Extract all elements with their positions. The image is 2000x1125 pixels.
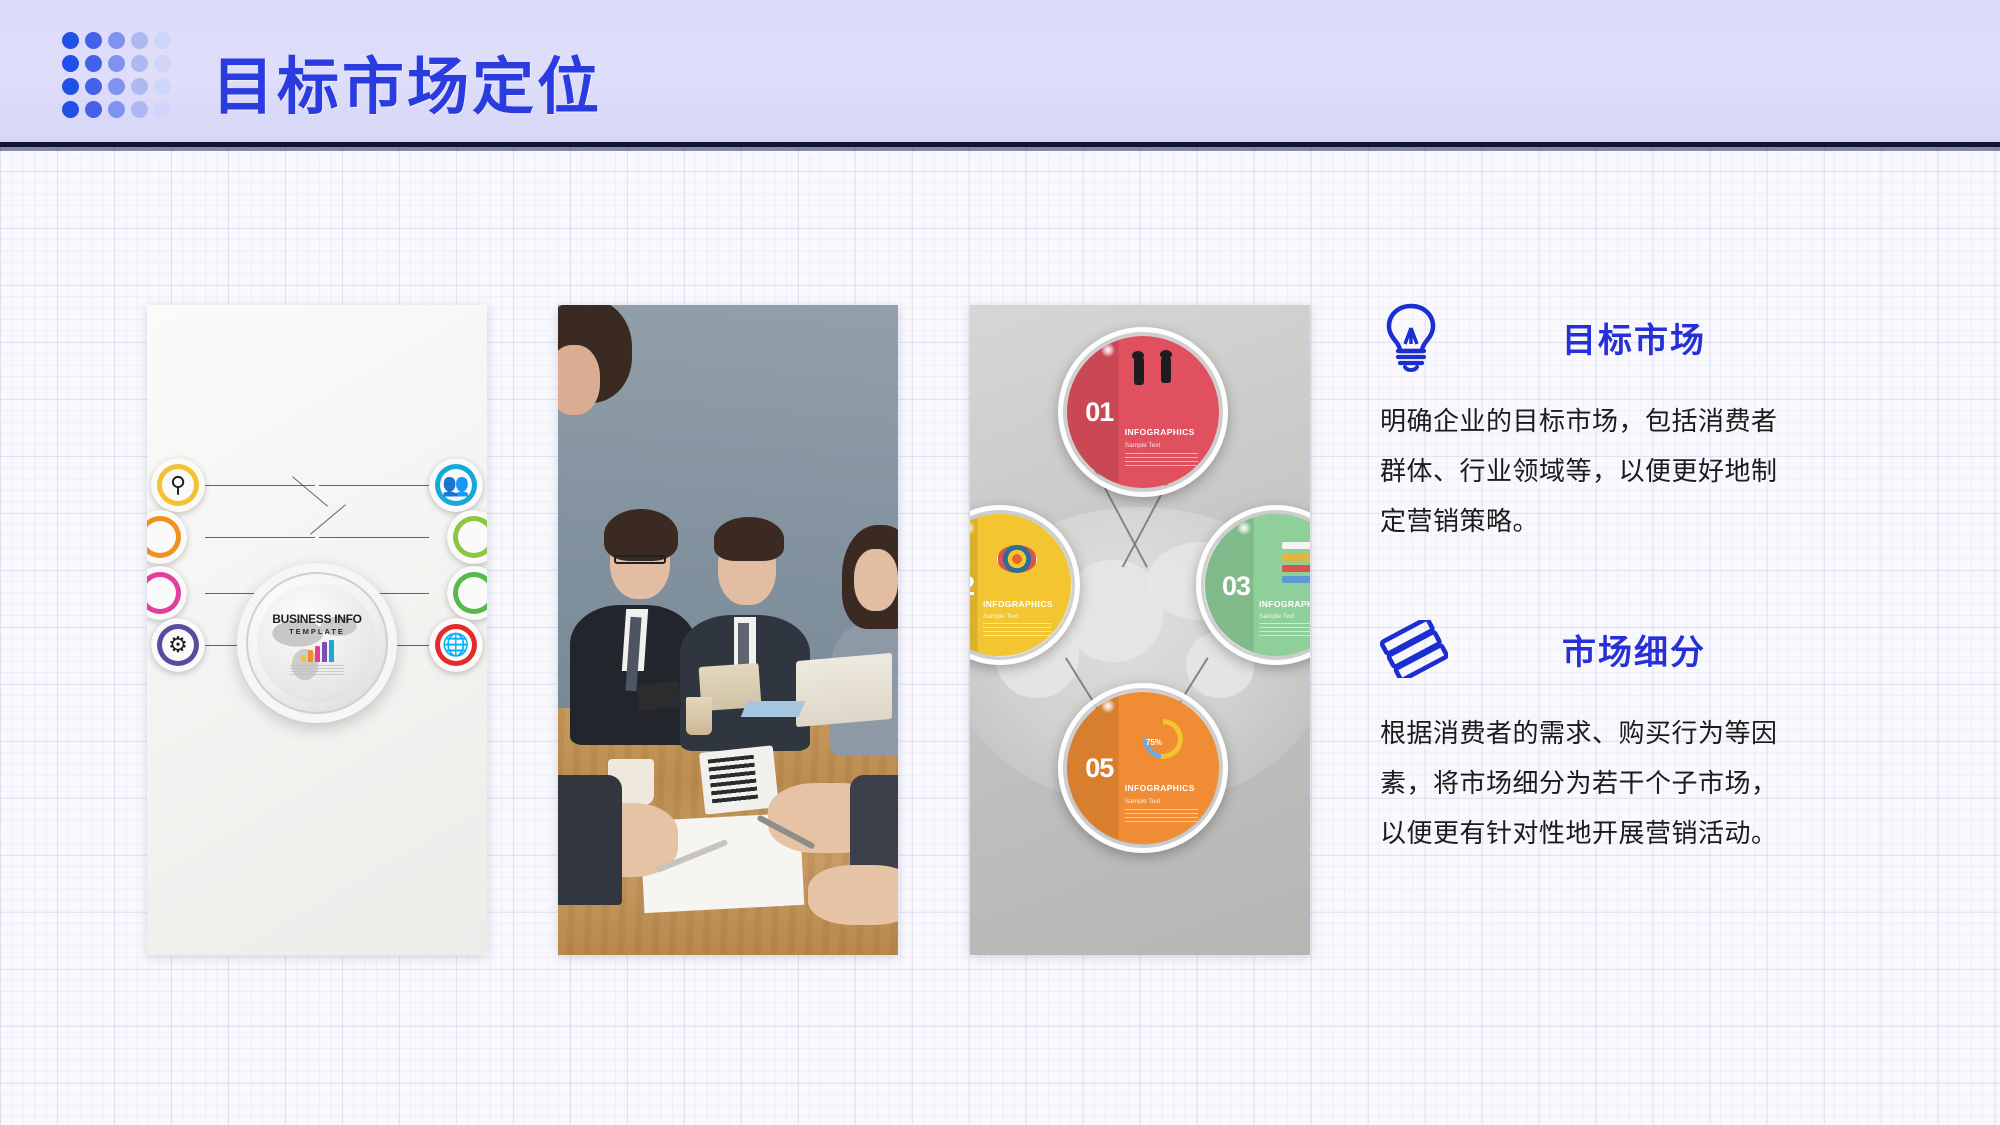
content-block-target-market: 目标市场 明确企业的目标市场，包括消费者群体、行业领域等，以便更好地制定营销策略…: [1380, 300, 1850, 546]
bar: [315, 646, 320, 662]
photo-person-hair: [714, 517, 784, 561]
photo-coffee-cup: [686, 697, 712, 735]
spoke-line: [292, 476, 328, 507]
content-block-header: 目标市场: [1380, 300, 1850, 374]
person-head: [1160, 350, 1172, 359]
bar: [301, 655, 306, 662]
bubble-02-fill: 02 INFOGRAPHICS Sample Text: [970, 514, 1071, 656]
target-icon: [997, 545, 1037, 573]
panel-business-info-template: BUSINESS INFO TEMPLATE ⚲ ⚙ 👥 🌐: [147, 305, 487, 955]
photo-person-face: [854, 549, 898, 611]
bubble-03-fill: 03 INFOGRAPHICS Sample Text: [1205, 514, 1310, 656]
bubble-placeholder-lines: [1125, 453, 1198, 466]
hub-title: BUSINESS INFO: [272, 612, 361, 626]
photo-person-face: [558, 345, 600, 415]
bubble-number: 02: [970, 571, 974, 602]
bubble-number: 03: [1222, 571, 1250, 602]
bubble-shine: [1100, 342, 1116, 358]
content-block-market-segmentation: 市场细分 根据消费者的需求、购买行为等因素，将市场细分为若干个子市场，以便更有针…: [1380, 612, 1850, 858]
bubble-placeholder-lines: [1125, 809, 1198, 822]
photo-person-glasses: [614, 555, 666, 564]
book-icon: [1282, 554, 1310, 561]
panel-business-meeting-photo: [558, 305, 898, 955]
photo-sleeve: [558, 775, 622, 905]
bubble-number: 05: [1085, 753, 1113, 784]
content-block-body: 根据消费者的需求、购买行为等因素，将市场细分为若干个子市场，以便更有针对性地开展…: [1380, 708, 1800, 858]
content-block-body: 明确企业的目标市场，包括消费者群体、行业领域等，以便更好地制定营销策略。: [1380, 396, 1800, 546]
bubble-01[interactable]: 01 INFOGRAPHICS Sample Text: [1058, 327, 1228, 497]
content-column: 目标市场 明确企业的目标市场，包括消费者群体、行业领域等，以便更好地制定营销策略…: [1380, 300, 1850, 924]
bubble-tag: INFOGRAPHICS: [1125, 427, 1195, 437]
content-block-header: 市场细分: [1380, 612, 1850, 686]
bar: [329, 640, 334, 662]
node-magnifier-icon[interactable]: ⚲: [151, 458, 205, 512]
bubble-subtext: Sample Text: [1259, 613, 1295, 620]
bar: [308, 650, 313, 662]
photo-blue-folder: [741, 701, 805, 717]
node-gears-icon[interactable]: ⚙: [151, 618, 205, 672]
photo-hand: [808, 865, 898, 925]
content-block-title: 市场细分: [1466, 625, 1850, 674]
book-icon: [1282, 542, 1310, 549]
bubble-shine: [970, 520, 976, 536]
node-people-icon[interactable]: 👥: [429, 458, 483, 512]
donut-value-label: 75%: [1146, 738, 1162, 747]
bubble-shine: [1100, 698, 1116, 714]
bubble-subtext: Sample Text: [1125, 798, 1161, 805]
spoke-line: [319, 537, 429, 538]
business-info-card: BUSINESS INFO TEMPLATE ⚲ ⚙ 👥 🌐: [147, 305, 487, 955]
bubble-subtext: Sample Text: [983, 613, 1019, 620]
bubble-subtext: Sample Text: [1125, 442, 1161, 449]
hub-subtitle: TEMPLATE: [289, 627, 345, 636]
book-icon: [1282, 565, 1310, 572]
bubble-tag: INFOGRAPHICS: [1259, 599, 1310, 609]
bubble-placeholder-lines: [1259, 623, 1310, 636]
bubble-number: 01: [1085, 397, 1113, 428]
node-globe-icon[interactable]: 🌐: [429, 618, 483, 672]
bubble-05-fill: 75% 05 INFOGRAPHICS Sample Text: [1067, 692, 1219, 844]
node-dot-icon[interactable]: [447, 510, 487, 564]
hub-note-lines: [290, 665, 344, 675]
circular-infographic-card: 01 INFOGRAPHICS Sample Text 02 INFOGRAPH…: [970, 305, 1310, 955]
people-icon: 👥: [442, 472, 469, 498]
spoke-line: [319, 485, 429, 486]
gears-icon: ⚙: [168, 632, 188, 658]
layered-diamond-icon: [1380, 620, 1466, 678]
book-icon: [1282, 576, 1310, 583]
node-dot-icon[interactable]: [447, 566, 487, 620]
person-silhouette: [1134, 357, 1144, 385]
photo-laptop: [796, 653, 892, 727]
info-hub: BUSINESS INFO TEMPLATE: [237, 563, 397, 723]
bar: [322, 642, 327, 662]
panel-circular-infographics: 01 INFOGRAPHICS Sample Text 02 INFOGRAPH…: [970, 305, 1310, 955]
spoke-line: [310, 504, 346, 535]
photo-tablet-dark: [637, 681, 681, 711]
lightbulb-icon: [1380, 301, 1466, 373]
info-hub-inner: BUSINESS INFO TEMPLATE: [257, 583, 377, 703]
photo-person-hair: [604, 509, 678, 561]
spoke-line: [205, 537, 315, 538]
person-silhouette: [1161, 357, 1171, 383]
magnifier-icon: ⚲: [170, 472, 186, 498]
photo-keyboard: [708, 755, 759, 806]
bubble-shine: [1236, 520, 1252, 536]
meeting-photo: [558, 305, 898, 955]
globe-icon: 🌐: [442, 632, 469, 658]
slide-background: 目标市场定位: [0, 0, 2000, 1125]
bubble-tag: INFOGRAPHICS: [983, 599, 1053, 609]
bubble-tag: INFOGRAPHICS: [1125, 783, 1195, 793]
bubble-placeholder-lines: [983, 623, 1051, 636]
spoke-line: [205, 485, 315, 486]
bubble-01-fill: 01 INFOGRAPHICS Sample Text: [1067, 336, 1219, 488]
node-dot-icon[interactable]: [147, 510, 187, 564]
bubble-05[interactable]: 75% 05 INFOGRAPHICS Sample Text: [1058, 683, 1228, 853]
bar-chart-icon: [301, 640, 334, 662]
node-dot-icon[interactable]: [147, 566, 187, 620]
content-block-title: 目标市场: [1466, 313, 1850, 362]
